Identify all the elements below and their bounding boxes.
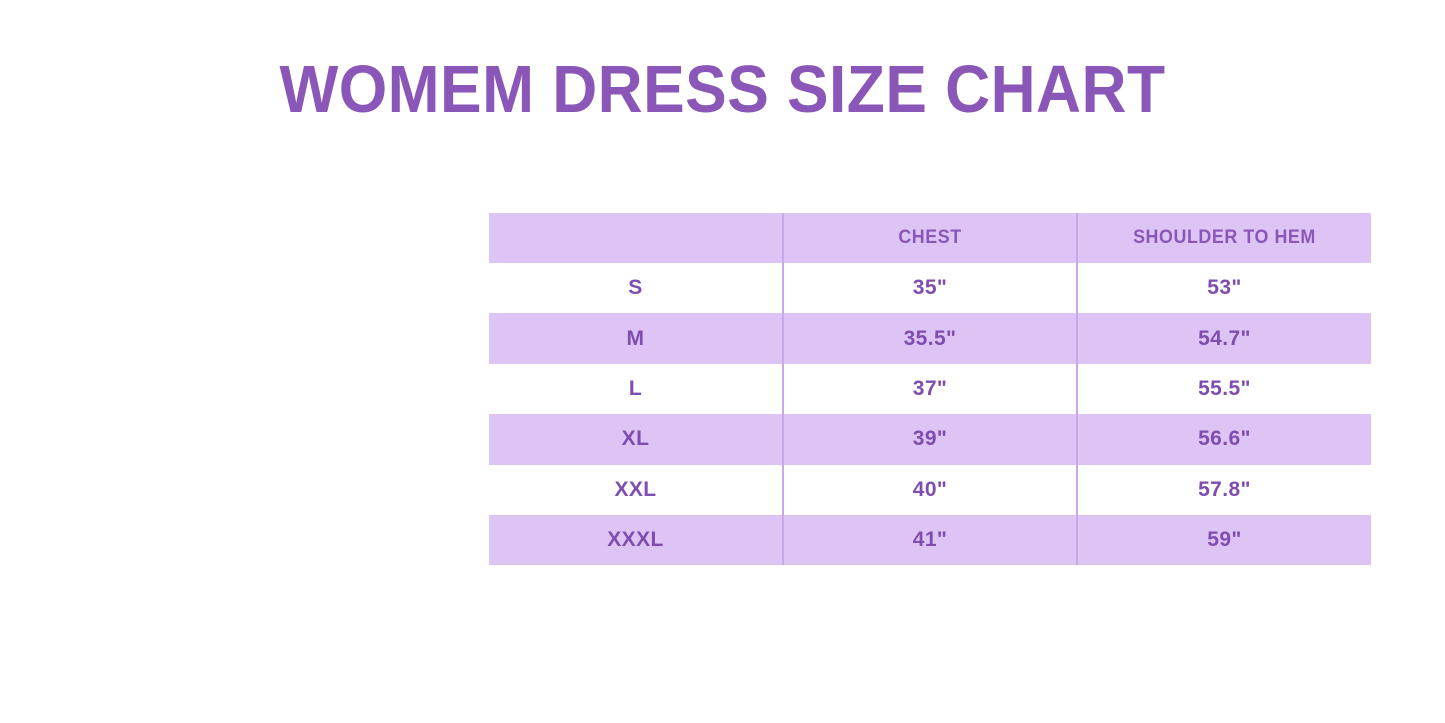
cell-size: XXL (489, 465, 783, 515)
table-row: M 35.5" 54.7" (489, 313, 1371, 363)
cell-shoulder-to-hem: 57.8" (1077, 465, 1371, 515)
cell-size: M (489, 313, 783, 363)
cell-chest: 41" (783, 515, 1077, 565)
size-chart-table-container: CHEST SHOULDER TO HEM S 35" 53" M 35.5" … (489, 213, 1371, 566)
table-row: S 35" 53" (489, 263, 1371, 313)
size-chart-page: WOMEM DRESS SIZE CHART CHEST SHOULDER TO… (0, 0, 1445, 723)
cell-size: S (489, 263, 783, 313)
cell-size: L (489, 364, 783, 414)
table-row: XL 39" 56.6" (489, 414, 1371, 464)
cell-chest: 35" (783, 263, 1077, 313)
cell-shoulder-to-hem: 55.5" (1077, 364, 1371, 414)
cell-shoulder-to-hem: 59" (1077, 515, 1371, 565)
size-chart-table: CHEST SHOULDER TO HEM S 35" 53" M 35.5" … (489, 213, 1371, 565)
cell-shoulder-to-hem: 54.7" (1077, 313, 1371, 363)
cell-shoulder-to-hem: 53" (1077, 263, 1371, 313)
table-row: XXL 40" 57.8" (489, 465, 1371, 515)
column-header-size (498, 213, 774, 263)
cell-shoulder-to-hem: 56.6" (1077, 414, 1371, 464)
cell-size: XL (489, 414, 783, 464)
cell-chest: 35.5" (783, 313, 1077, 363)
cell-size: XXXL (489, 515, 783, 565)
table-row: L 37" 55.5" (489, 364, 1371, 414)
cell-chest: 39" (783, 414, 1077, 464)
page-title: WOMEM DRESS SIZE CHART (51, 52, 1395, 128)
table-row: XXXL 41" 59" (489, 515, 1371, 565)
table-body: S 35" 53" M 35.5" 54.7" L 37" 55.5" XL 3… (489, 263, 1371, 565)
cell-chest: 37" (783, 364, 1077, 414)
column-header-chest: CHEST (792, 213, 1068, 263)
table-header-row: CHEST SHOULDER TO HEM (489, 213, 1371, 263)
cell-chest: 40" (783, 465, 1077, 515)
table-header: CHEST SHOULDER TO HEM (489, 213, 1371, 263)
column-header-shoulder-to-hem: SHOULDER TO HEM (1086, 213, 1362, 263)
